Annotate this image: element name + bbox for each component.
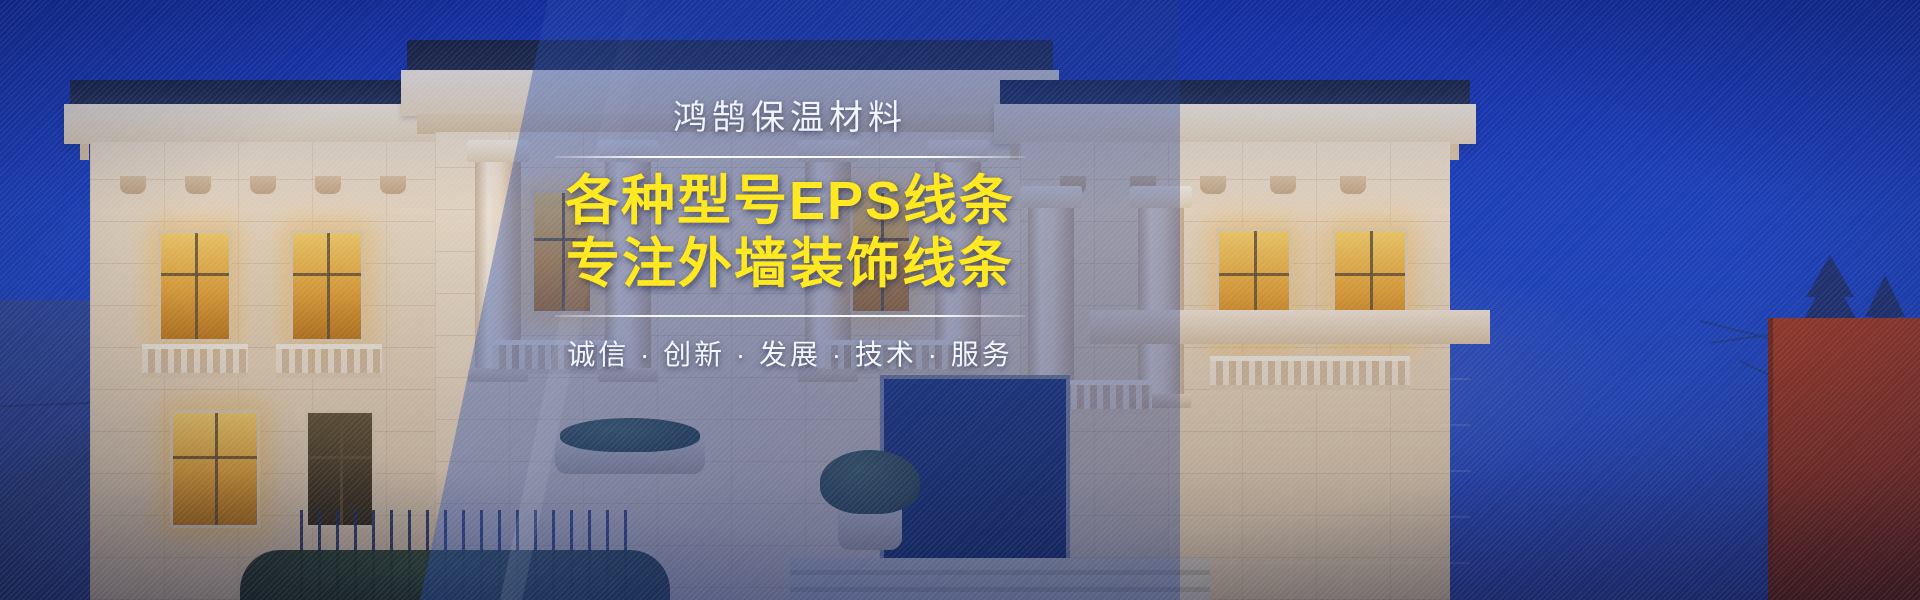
headline-line-2: 专注外墙装饰线条: [555, 233, 1025, 296]
headline-line-1: 各种型号EPS线条: [555, 170, 1025, 233]
promo-banner: 鸿鹄保温材料 各种型号EPS线条 专注外墙装饰线条 诚信 · 创新 · 发展 ·…: [0, 0, 1920, 600]
company-name: 鸿鹄保温材料: [555, 96, 1025, 140]
divider-top: [555, 156, 1025, 158]
divider-bottom: [555, 315, 1025, 317]
company-slogan: 诚信 · 创新 · 发展 · 技术 · 服务: [555, 333, 1025, 373]
banner-content: 鸿鹄保温材料 各种型号EPS线条 专注外墙装饰线条 诚信 · 创新 · 发展 ·…: [555, 96, 1025, 373]
